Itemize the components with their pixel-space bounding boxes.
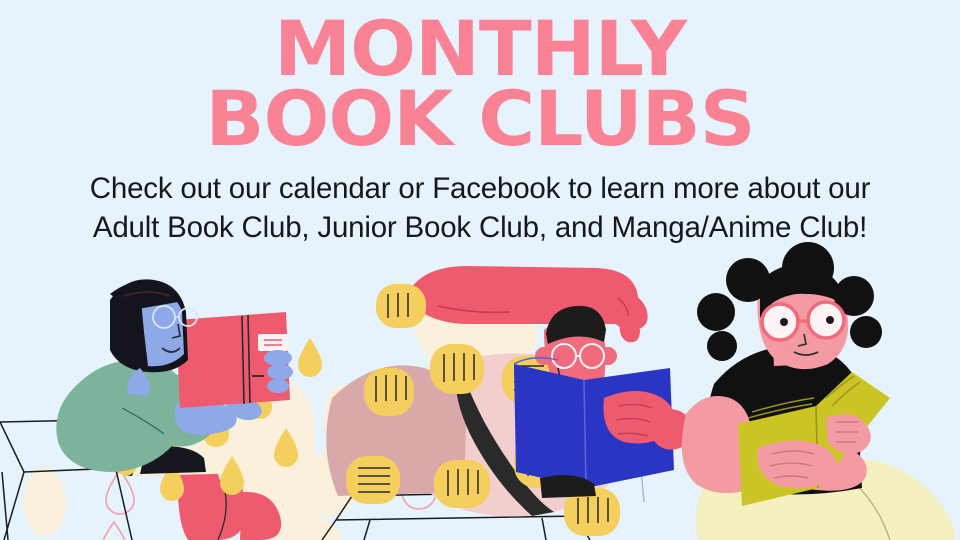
- page-subtitle: Check out our calendar or Facebook to le…: [0, 154, 960, 248]
- subtitle-line-2: Adult Book Club, Junior Book Club, and M…: [0, 209, 960, 248]
- reader-left-figure: [28, 272, 328, 540]
- page-title: MONTHLY BOOK CLUBS: [0, 0, 960, 154]
- text-block: MONTHLY BOOK CLUBS Check out our calenda…: [0, 0, 960, 248]
- reader-right-figure: [676, 272, 960, 540]
- subtitle-line-1: Check out our calendar or Facebook to le…: [0, 170, 960, 209]
- reader-middle-figure: [318, 272, 678, 540]
- poster-canvas: MONTHLY BOOK CLUBS Check out our calenda…: [0, 0, 960, 540]
- left-reader-fingers: [264, 350, 293, 393]
- headline-line-2: BOOK CLUBS: [0, 84, 960, 154]
- illustration: [0, 272, 960, 540]
